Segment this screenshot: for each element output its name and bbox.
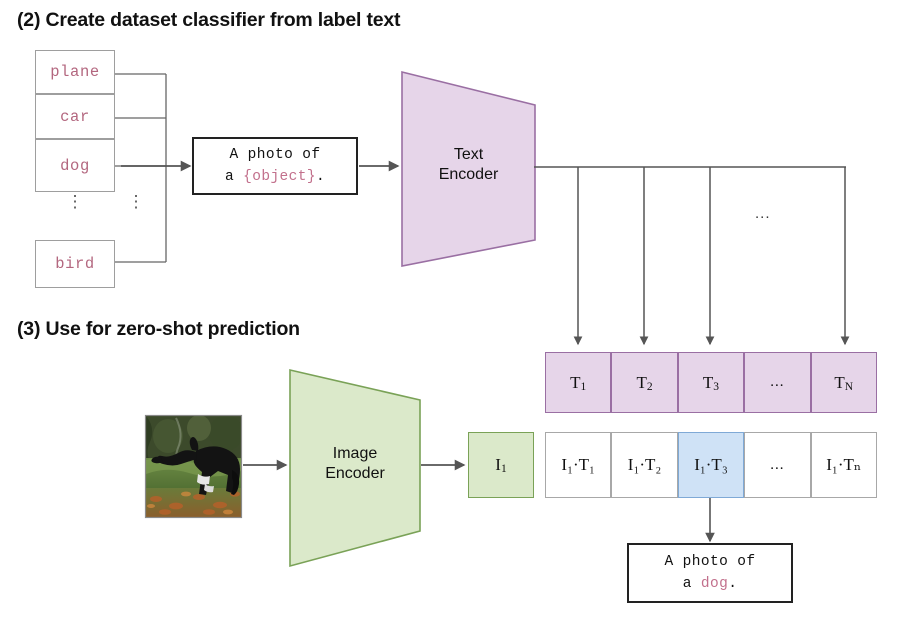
similarity-row: I₁·T₁ I₁·T₂ I₁·T₃ ... I₁·Tₙ xyxy=(545,432,877,498)
prediction-suffix: . xyxy=(728,576,737,592)
prompt-template-suffix: . xyxy=(316,169,325,185)
label-list-vertical-ellipsis: ⋮ xyxy=(62,200,88,204)
similarity-cell-ellipsis: ... xyxy=(744,432,810,498)
prediction-line2: a dog. xyxy=(683,573,738,595)
text-embedding-sub-2: 2 xyxy=(647,381,653,393)
text-embedding-cell-1[interactable]: T1 xyxy=(545,352,611,413)
text-embedding-sub-n: N xyxy=(845,381,853,393)
label-box-dog[interactable]: dog xyxy=(35,139,115,192)
similarity-label-n: I₁·Tₙ xyxy=(826,455,861,475)
label-bus xyxy=(115,74,166,262)
image-encoder-line2: Encoder xyxy=(325,465,385,482)
text-encoder-line1: Text xyxy=(454,146,483,163)
similarity-label-1: I₁·T₁ xyxy=(561,455,595,475)
text-bus-ellipsis: ... xyxy=(755,205,771,222)
prompt-template-line2: a {object}. xyxy=(225,166,325,188)
prediction-slot: dog xyxy=(701,576,728,592)
prompt-template-line1: A photo of xyxy=(229,144,320,166)
prediction-box[interactable]: A photo of a dog. xyxy=(627,543,793,603)
image-embedding-box[interactable]: I1 xyxy=(468,432,534,498)
text-encoder-line2: Encoder xyxy=(439,166,499,183)
similarity-cell-1[interactable]: I₁·T₁ xyxy=(545,432,611,498)
dog-photo-art xyxy=(146,415,243,517)
text-embedding-ellipsis: ... xyxy=(770,374,784,391)
prompt-template-prefix: a xyxy=(225,169,243,185)
section-2-title: (2) Create dataset classifier from label… xyxy=(17,9,400,32)
prompt-template-slot: {object} xyxy=(243,169,316,185)
similarity-cell-n[interactable]: I₁·Tₙ xyxy=(811,432,877,498)
text-embedding-sub-1: 1 xyxy=(581,381,587,393)
text-encoder-label: Text Encoder xyxy=(402,145,535,185)
label-box-bird[interactable]: bird xyxy=(35,240,115,288)
clip-diagram: (2) Create dataset classifier from label… xyxy=(0,0,906,624)
similarity-ellipsis: ... xyxy=(770,457,784,474)
label-bus-vertical-ellipsis: ⋮ xyxy=(123,200,149,204)
text-embeddings-row: T1 T2 T3 ... TN xyxy=(545,352,877,413)
text-embedding-cell-n[interactable]: TN xyxy=(811,352,877,413)
text-embedding-cell-3[interactable]: T3 xyxy=(678,352,744,413)
similarity-label-3: I₁·T₃ xyxy=(694,455,728,475)
prompt-template-box[interactable]: A photo of a {object}. xyxy=(192,137,358,195)
similarity-label-2: I₁·T₂ xyxy=(628,455,662,475)
text-embedding-symbol-2: T xyxy=(637,373,647,393)
similarity-cell-3-selected[interactable]: I₁·T₃ xyxy=(678,432,744,498)
connector-layer xyxy=(0,0,906,624)
text-embedding-symbol-3: T xyxy=(703,373,713,393)
image-encoder-label: Image Encoder xyxy=(290,444,420,484)
similarity-cell-2[interactable]: I₁·T₂ xyxy=(611,432,677,498)
text-embedding-symbol-1: T xyxy=(570,373,580,393)
section-3-title: (3) Use for zero-shot prediction xyxy=(17,318,300,341)
image-embedding-sub: 1 xyxy=(501,463,507,475)
prediction-line1: A photo of xyxy=(664,551,755,573)
image-encoder-line1: Image xyxy=(333,445,377,462)
label-box-plane[interactable]: plane xyxy=(35,50,115,94)
text-embedding-symbol-n: T xyxy=(834,373,844,393)
text-embedding-cell-2[interactable]: T2 xyxy=(611,352,677,413)
prediction-prefix: a xyxy=(683,576,701,592)
label-box-car[interactable]: car xyxy=(35,94,115,139)
text-embedding-bus xyxy=(534,167,846,344)
text-embedding-sub-3: 3 xyxy=(713,381,719,393)
text-embedding-cell-ellipsis: ... xyxy=(744,352,810,413)
